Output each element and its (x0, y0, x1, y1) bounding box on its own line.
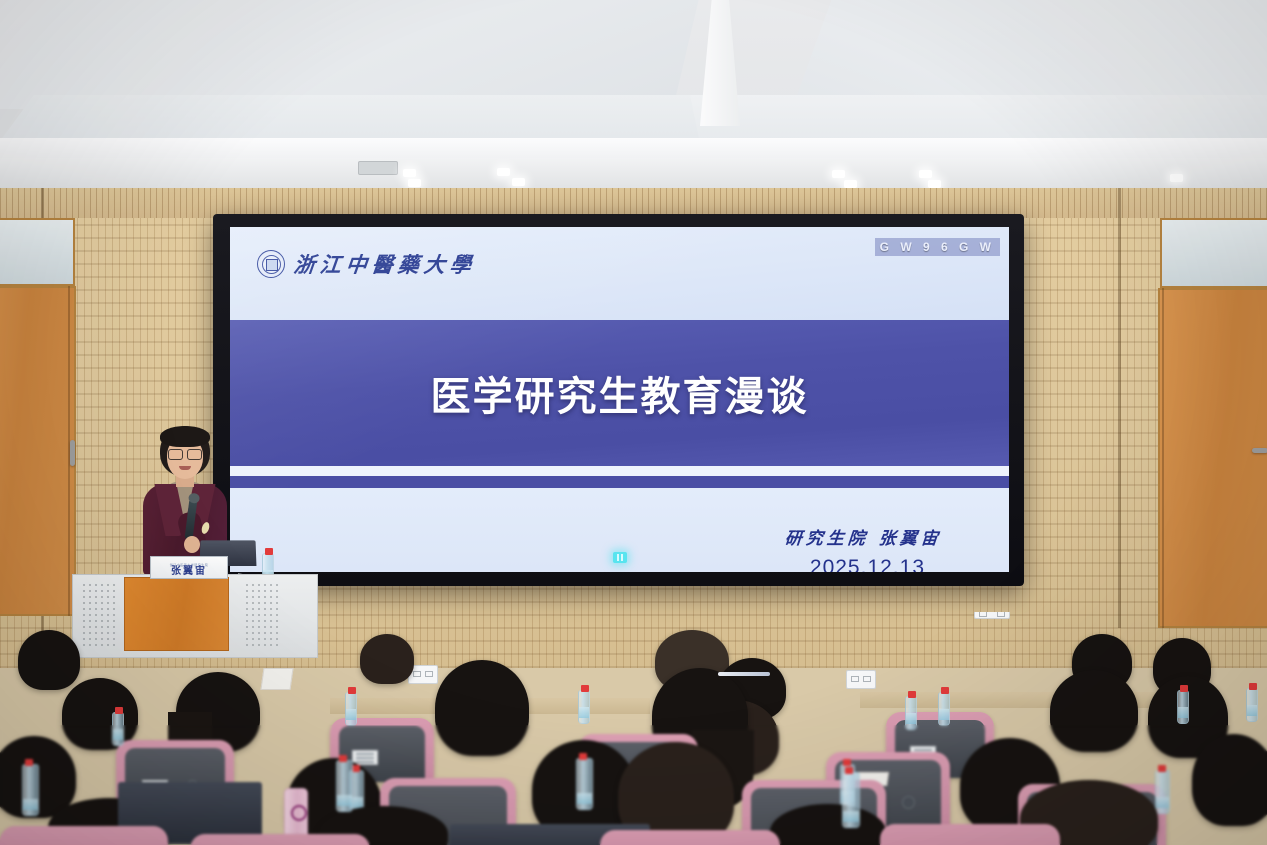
door-handle-right[interactable] (1252, 448, 1267, 453)
water-bottle[interactable] (938, 692, 950, 726)
presentation-screen[interactable]: 浙江中醫藥大學 G W 9 6 G W 医学研究生教育漫谈 研究生院 张翼宙 2… (213, 214, 1024, 586)
presenter-hand (184, 536, 200, 553)
downlight-icon (832, 170, 845, 178)
exit-door-right[interactable] (1158, 288, 1267, 628)
wall-corner-edge (1118, 188, 1121, 628)
audience-head (1192, 734, 1267, 826)
audience-head (18, 630, 80, 690)
slide-separator-blue (230, 476, 1009, 488)
downlight-icon (512, 178, 525, 186)
water-bottle[interactable] (112, 712, 124, 746)
presenter-hair-fringe (160, 426, 210, 447)
door-transom-window-right (1160, 218, 1267, 288)
downlight-icon (497, 168, 510, 176)
slide-separator-light (230, 466, 1009, 476)
screen-watermark: G W 9 6 G W (875, 238, 1000, 256)
lecture-hall-photo: 浙江中醫藥大學 G W 9 6 G W 医学研究生教育漫谈 研究生院 张翼宙 2… (0, 0, 1267, 845)
door-handle-left[interactable] (70, 440, 75, 466)
university-branding: 浙江中醫藥大學 (257, 249, 476, 279)
water-bottle[interactable] (1177, 690, 1189, 724)
water-bottle[interactable] (336, 760, 353, 812)
university-name: 浙江中醫藥大學 (292, 249, 477, 279)
water-bottle[interactable] (1246, 688, 1258, 722)
wall-outlet[interactable] (974, 612, 1010, 619)
audience-head (435, 660, 529, 756)
water-bottle[interactable] (576, 758, 593, 810)
screen-display-area: 浙江中醫藥大學 G W 9 6 G W 医学研究生教育漫谈 研究生院 张翼宙 2… (230, 227, 1009, 572)
slide-title-band: 医学研究生教育漫谈 (230, 320, 1009, 466)
water-bottle[interactable] (578, 690, 590, 724)
audience-head (1050, 670, 1138, 752)
name-plate-name: 张翼宙 (171, 567, 207, 577)
pause-indicator-icon (613, 552, 627, 563)
slide-header: 浙江中醫藥大學 G W 9 6 G W (230, 227, 1009, 320)
slide-title: 医学研究生教育漫谈 (230, 364, 1009, 422)
downlight-icon (403, 169, 416, 177)
downlight-icon (1170, 174, 1183, 182)
ceiling-beam-vertical (700, 0, 740, 126)
water-bottle[interactable] (22, 764, 39, 816)
wall-outlet[interactable] (846, 670, 876, 689)
slide-content: 浙江中醫藥大學 G W 9 6 G W 医学研究生教育漫谈 研究生院 张翼宙 2… (230, 227, 1009, 572)
audience-head (360, 634, 414, 684)
audience-head (62, 678, 138, 750)
seat[interactable] (880, 824, 1060, 845)
water-bottle[interactable] (842, 772, 860, 828)
slide-footer: 研究生院 张翼宙 2025.12.13 (230, 488, 1009, 572)
seat[interactable] (0, 826, 168, 845)
handout-paper[interactable] (260, 668, 293, 690)
downlight-icon (928, 180, 941, 188)
hair-clip-icon (718, 672, 770, 676)
slide-presenter: 研究生院 张翼宙 (784, 524, 943, 549)
downlight-icon (844, 180, 857, 188)
seat[interactable] (600, 830, 780, 845)
door-seam (1162, 288, 1164, 628)
downlight-icon (408, 179, 421, 187)
audience-seating (0, 612, 1267, 845)
seat[interactable] (190, 834, 370, 845)
water-bottle[interactable] (345, 692, 357, 726)
downlight-icon (919, 170, 932, 178)
exit-door-left[interactable] (0, 286, 76, 616)
door-transom-window-left (0, 218, 75, 286)
name-plate: 浙江中医药大学研究生院 张翼宙 (150, 556, 228, 579)
ceiling-soffit (0, 158, 1267, 192)
water-bottle[interactable] (905, 696, 917, 730)
slide-date: 2025.12.13 (810, 556, 925, 572)
eyeglasses-icon (168, 449, 202, 458)
university-seal-icon (257, 250, 285, 278)
ceiling-vent-icon (358, 161, 398, 175)
water-bottle[interactable] (1155, 770, 1170, 814)
seat-pivot-knob (902, 796, 915, 809)
